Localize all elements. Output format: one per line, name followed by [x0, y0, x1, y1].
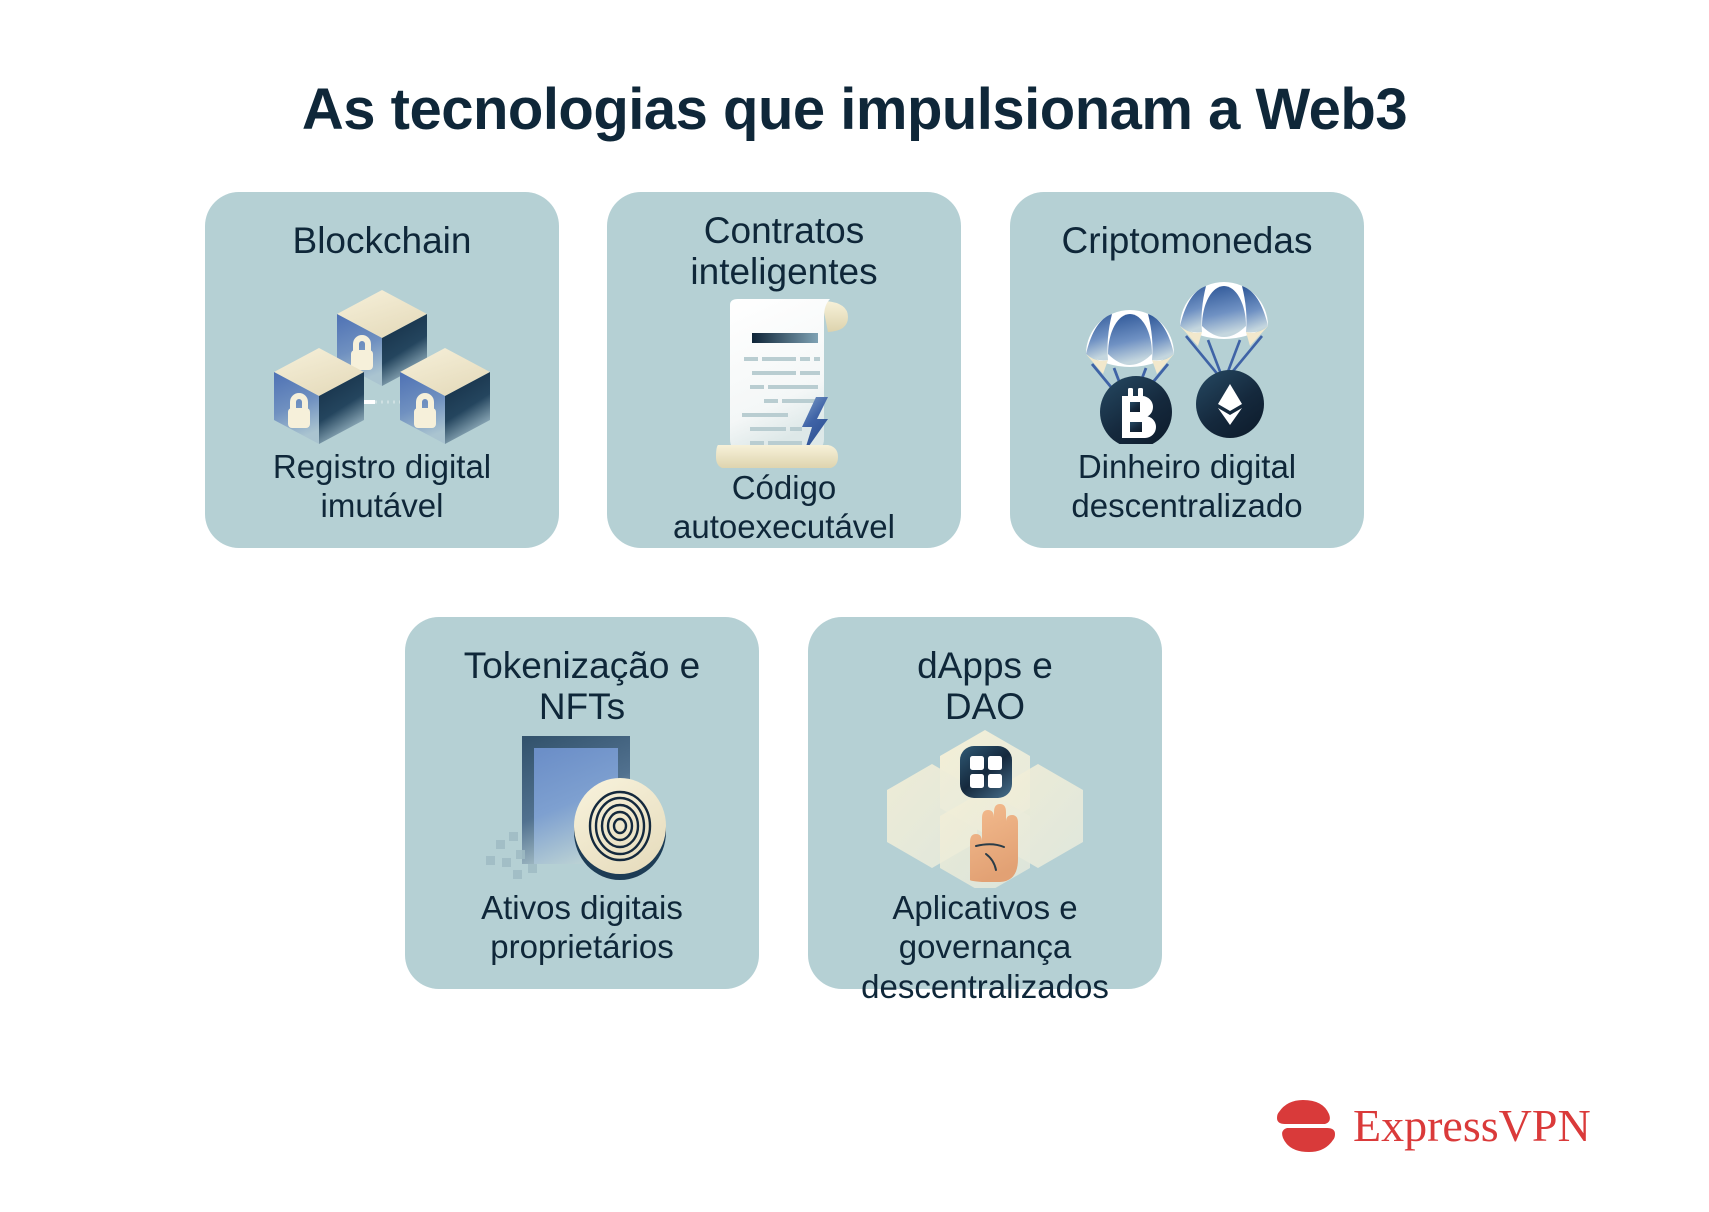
card-title: Contratos inteligentes [690, 210, 877, 293]
card-title: Criptomonedas [1062, 220, 1313, 261]
nft-frame-fingerprint-icon [482, 728, 682, 888]
card-illustration [1026, 261, 1348, 446]
card-dapps: dApps e DAO [808, 617, 1162, 989]
card-blockchain: Blockchain [205, 192, 559, 548]
expressvpn-logo: ExpressVPN [1273, 1098, 1591, 1154]
expressvpn-wordmark: ExpressVPN [1353, 1103, 1591, 1149]
card-caption: Aplicativos e governança descentralizado… [861, 888, 1109, 1007]
expressvpn-e-mark-icon [1273, 1098, 1339, 1154]
card-caption: Registro digital imutável [273, 447, 491, 526]
parachuting-coins-icon [1062, 264, 1312, 444]
card-caption: Dinheiro digital descentralizado [1071, 447, 1302, 526]
card-contracts: Contratos inteligentes [607, 192, 961, 548]
card-illustration [623, 293, 945, 468]
card-title: Blockchain [293, 220, 472, 261]
card-illustration [824, 728, 1146, 888]
card-crypto: Criptomonedas [1010, 192, 1364, 548]
card-caption: Código autoexecutável [673, 468, 895, 547]
card-title: Tokenização e NFTs [464, 645, 701, 728]
contract-scroll-lightning-icon [704, 293, 864, 468]
hexagons-app-hand-icon [870, 728, 1100, 888]
card-caption: Ativos digitais proprietários [481, 888, 683, 967]
card-illustration [221, 261, 543, 446]
locked-cubes-icon [267, 262, 497, 447]
card-title: dApps e DAO [917, 645, 1053, 728]
card-nft: Tokenização e NFTs [405, 617, 759, 989]
page-title: As tecnologias que impulsionam a Web3 [0, 78, 1709, 142]
card-illustration [421, 728, 743, 888]
